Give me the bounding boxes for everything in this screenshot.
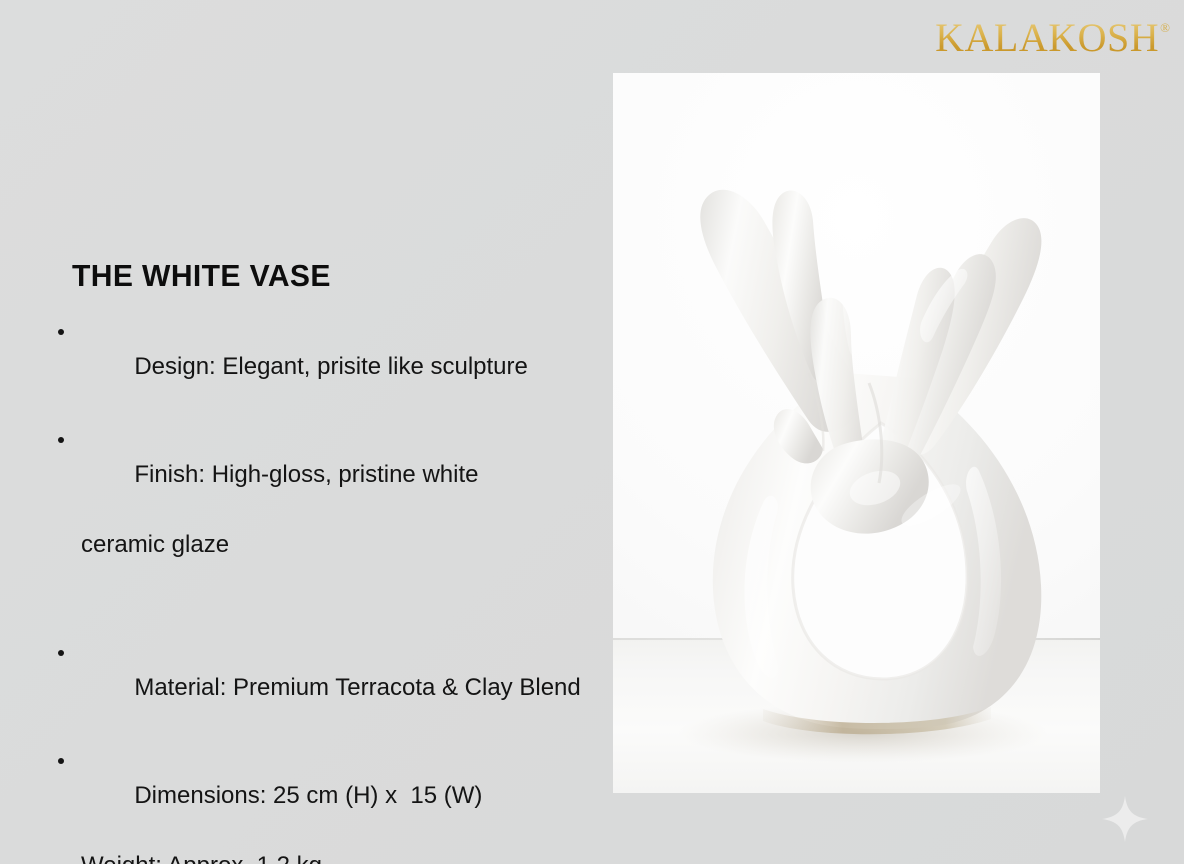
spec-text: Dimensions: 25 cm (H) x 15 (W): [134, 782, 482, 809]
page-title: THE WHITE VASE: [72, 258, 580, 294]
spec-list: Design: Elegant, prisite like sculpture …: [56, 314, 596, 864]
list-item: Design: Elegant, prisite like sculpture: [56, 314, 596, 419]
list-item: Material: Premium Terracota & Clay Blend: [56, 635, 596, 740]
slide-canvas: KALAKOSH ® THE WHITE VASE Design: Elegan…: [0, 0, 1184, 864]
spec-text-continuation: ceramic glaze: [81, 527, 596, 562]
sparkle-icon: [1102, 796, 1148, 842]
list-item: Dimensions: 25 cm (H) x 15 (W) Weight: A…: [56, 743, 596, 864]
spec-text: Material: Premium Terracota & Clay Blend: [134, 674, 580, 701]
spec-text: Design: Elegant, prisite like sculpture: [134, 353, 528, 380]
product-photo: [613, 73, 1100, 793]
list-item: Finish: High-gloss, pristine white ceram…: [56, 422, 596, 632]
brand-logo: KALAKOSH ®: [935, 18, 1170, 58]
spec-text: Finish: High-gloss, pristine white: [134, 461, 478, 488]
registered-mark-icon: ®: [1160, 21, 1170, 34]
vase-sculpture-illustration: [613, 73, 1100, 793]
product-copy: THE WHITE VASE Design: Elegant, prisite …: [56, 258, 596, 864]
brand-name: KALAKOSH: [935, 18, 1159, 58]
spec-text-continuation: Weight: Approx, 1.2 kg: [81, 848, 596, 864]
